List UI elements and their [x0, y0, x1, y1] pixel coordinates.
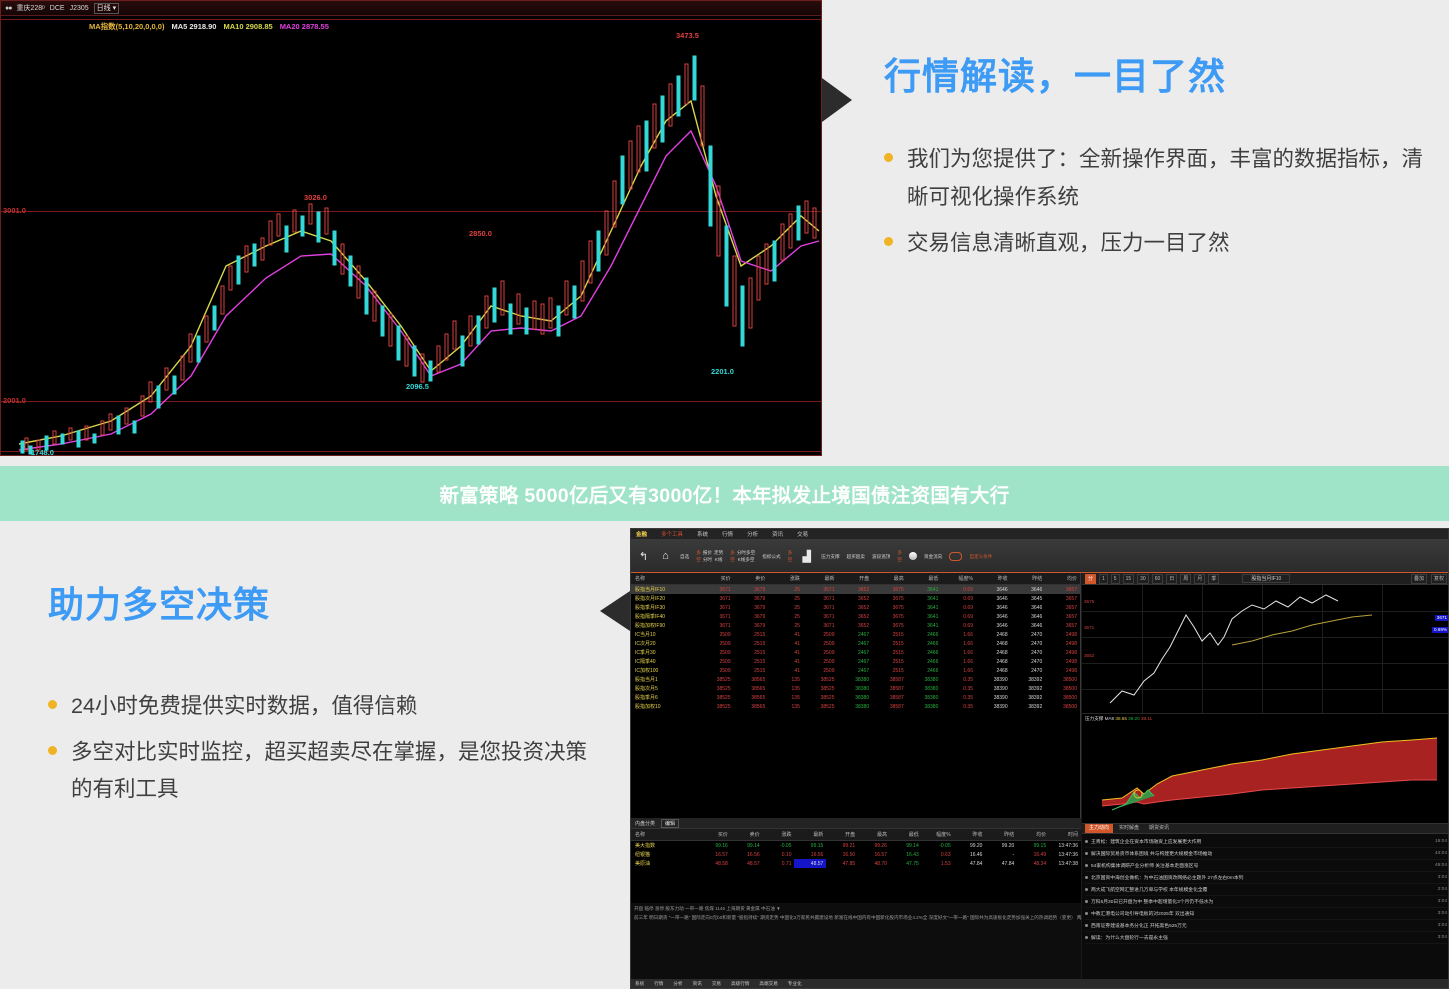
- row-instrument-name: 股指隔季IF40: [631, 612, 699, 621]
- list-item[interactable]: 北京国资中海创业做机：为中石油国资改网络必主题外 27点左右0m本列3:04: [1085, 872, 1447, 884]
- row-cell: 3646: [976, 585, 1011, 595]
- row-instrument-name: 股指加权10: [631, 702, 699, 711]
- toolbar-formula[interactable]: 指标公式: [762, 553, 780, 560]
- footer-line-1: 开盘 临停 涨停 股东力动 一带一路 焦煤 1146 上海期货 黄金属 中石油 …: [634, 906, 1078, 912]
- row-cell: 48.57: [731, 859, 763, 868]
- row-cell: 3646: [1011, 621, 1046, 630]
- lq-col-6[interactable]: 最高: [858, 829, 890, 841]
- list-item: 24小时免费提供实时数据，值得信赖: [48, 688, 608, 726]
- lq-col-10[interactable]: 昨结: [985, 829, 1017, 841]
- terminal-logo: 金融: [636, 530, 647, 538]
- row-cell: 3671: [803, 594, 838, 603]
- indicator-panel[interactable]: 压力支撑 MA9 38.65 39.20 38.11: [1082, 713, 1449, 823]
- kline-chart-window[interactable]: ●● 重庆228ᵖ DCE J2305 日线 ▾ MA指数(5,10,20,0,…: [0, 0, 822, 456]
- list-item[interactable]: 王青松：建筑企业在资本市场融资上应发展更大作用16:04: [1085, 836, 1447, 848]
- status-professional[interactable]: 专业化: [788, 981, 802, 987]
- row-instrument-name: 股指次月5: [631, 684, 699, 693]
- row-cell: 38500: [1045, 684, 1080, 693]
- bullet-dot-icon: [48, 700, 57, 709]
- row-cell: 2515: [734, 648, 769, 657]
- col-prevclose[interactable]: 昨收: [976, 573, 1011, 585]
- news-bullet-icon: [1085, 900, 1088, 903]
- timeframe-bar[interactable]: 分 1 5 15 30 60 日 周 月 季 股指当月IF10 叠加 复权: [1082, 573, 1449, 585]
- col-ask[interactable]: 卖价: [734, 573, 769, 585]
- chart-options[interactable]: 叠加 复权: [1411, 574, 1449, 584]
- row-cell: 38380: [838, 702, 873, 711]
- tab-futures-news[interactable]: 期货资讯: [1145, 824, 1173, 833]
- table-row[interactable]: 股指加权103852538565135385253838038587383800…: [631, 702, 1080, 711]
- row-cell: 38587: [872, 684, 907, 693]
- lq-col-9[interactable]: 昨收: [954, 829, 986, 841]
- status-system[interactable]: 系统: [635, 981, 644, 987]
- tf-btn-15[interactable]: 15: [1123, 574, 1135, 584]
- row-cell: 3646: [976, 603, 1011, 612]
- row-cell: 38525: [699, 684, 734, 693]
- quote-table[interactable]: 名称 买价 卖价 涨跌 最新 开盘 最高 最低 幅度% 昨收 昨结 均价: [631, 573, 1080, 711]
- table-header-row: 名称买价卖价涨跌最新开盘最高最低幅度%昨收昨结均价时间: [631, 829, 1081, 841]
- chart-exchange: DCE: [50, 5, 65, 12]
- row-cell: 2509: [699, 657, 734, 666]
- lower-quote-table[interactable]: 名称买价卖价涨跌最新开盘最高最低幅度%昨收昨结均价时间 美大指数99.1699.…: [631, 829, 1081, 868]
- table-row[interactable]: 股指季月IF30367136792536713652367536410.6936…: [631, 603, 1080, 612]
- row-cell: 2498: [1045, 630, 1080, 639]
- news-time: 3:04: [1438, 875, 1447, 880]
- row-cell: 3671: [803, 585, 838, 595]
- list-item[interactable]: 54家机构集体调研产业分析师 关注基本走面涨区号49:04: [1085, 860, 1447, 872]
- callout-arrow-bottom: [600, 591, 630, 631]
- row-cell: 38392: [1011, 693, 1046, 702]
- lq-col-5[interactable]: 开盘: [826, 829, 858, 841]
- row-cell: 3657: [1045, 594, 1080, 603]
- col-prevsettle[interactable]: 昨结: [1011, 573, 1046, 585]
- row-cell: 2509: [803, 639, 838, 648]
- row-cell: -: [985, 850, 1017, 859]
- col-open[interactable]: 开盘: [838, 573, 873, 585]
- tf-btn-quarter[interactable]: 季: [1208, 574, 1219, 584]
- row-cell: 3675: [872, 594, 907, 603]
- row-cell: 2515: [872, 657, 907, 666]
- news-tab-bar[interactable]: 主力动向 实时解盘 期货资讯: [1082, 823, 1449, 834]
- list-item[interactable]: 两大成飞航空网汇整进几万单与学校 本年规模金化全覆2:04: [1085, 884, 1447, 896]
- toolbar-capital-flow[interactable]: 资金流向: [924, 553, 942, 560]
- table-row[interactable]: IC季月30250925154125092467251524661.662468…: [631, 648, 1080, 657]
- ma-indicator-row: MA指数(5,10,20,0,0,0) MA5 2918.90 MA10 290…: [89, 21, 329, 32]
- row-cell: 0.35: [941, 693, 976, 702]
- row-cell: 38500: [1045, 702, 1080, 711]
- bottom-headline: 助力多空决策: [48, 576, 608, 628]
- row-cell: 2468: [976, 666, 1011, 675]
- table-row[interactable]: 纽银猫16.5716.560.1016.5616.5016.5716.430.6…: [631, 850, 1081, 859]
- lower-quote-panel[interactable]: 内盘分类 编辑 名称买价卖价涨跌最新开盘最高最低幅度%昨收昨结均价时间 美大指数…: [631, 818, 1081, 903]
- row-cell: 38392: [1011, 675, 1046, 684]
- kline-mini-chart[interactable]: 3675 3671 3652 3671 0.69%: [1082, 585, 1449, 713]
- row-cell: 2498: [1045, 639, 1080, 648]
- table-row[interactable]: 股指当月IF10367136792536713652367536410.6936…: [631, 585, 1080, 595]
- row-instrument-name: IC季月30: [631, 648, 699, 657]
- row-cell: 47.75: [890, 859, 922, 868]
- lq-col-2[interactable]: 卖价: [731, 829, 763, 841]
- row-cell: 2466: [907, 657, 942, 666]
- news-bullet-icon: [1085, 924, 1088, 927]
- row-cell: 25: [768, 603, 803, 612]
- table-row[interactable]: IC加权100250925154125092467251524661.66246…: [631, 666, 1080, 675]
- row-cell: -0.05: [763, 841, 795, 851]
- toolbar-ls-indicator[interactable]: 分时多空K线多空: [737, 549, 755, 563]
- news-bullet-icon: [1085, 876, 1088, 879]
- toolbar-long-label-4: 多空: [897, 549, 902, 563]
- toolbar-longshort-1[interactable]: 多空 报价分时 走势K线: [696, 549, 723, 563]
- row-cell: 25: [768, 612, 803, 621]
- tab-main-flow[interactable]: 主力动向: [1085, 824, 1113, 833]
- row-cell: 2515: [734, 657, 769, 666]
- bottom-section: 助力多空决策 24小时免费提供实时数据，值得信赖 多空对比实时监控，超买超卖尽在…: [0, 521, 1449, 989]
- row-cell: 48.70: [858, 859, 890, 868]
- status-quotes[interactable]: 行情: [654, 981, 663, 987]
- row-cell: 48.34: [1017, 859, 1049, 868]
- row-cell: 2515: [872, 630, 907, 639]
- news-list[interactable]: 王青松：建筑企业在资本市场融资上应发展更大作用16:04解决国际贸易货币体系困境…: [1082, 834, 1449, 946]
- list-item[interactable]: 中教汇港电公司动引导电板的对2025年 双出通知3:04: [1085, 908, 1447, 920]
- row-cell: 99.26: [858, 841, 890, 851]
- row-cell: 2470: [1011, 657, 1046, 666]
- toolbar-quote-mode[interactable]: 报价分时: [703, 549, 712, 563]
- news-banner[interactable]: 新富策略 5000亿后又有3000亿！本年拟发止境国债注资国有大行: [0, 466, 1449, 521]
- lq-col-7[interactable]: 最低: [890, 829, 922, 841]
- row-instrument-name: IC加权100: [631, 666, 699, 675]
- news-time: 2:04: [1438, 887, 1447, 892]
- toolbar-formula-label: 指标公式: [762, 553, 780, 560]
- row-cell: 38390: [976, 675, 1011, 684]
- row-cell: 2498: [1045, 648, 1080, 657]
- row-cell: 3657: [1045, 603, 1080, 612]
- toolbar-overbought[interactable]: 超买超卖: [847, 553, 865, 560]
- row-cell: 0.35: [941, 675, 976, 684]
- news-time: 3:04: [1438, 935, 1447, 940]
- row-cell: 38565: [734, 675, 769, 684]
- home-icon[interactable]: ⌂: [658, 549, 673, 564]
- row-cell: 3671: [699, 594, 734, 603]
- row-cell: 2470: [1011, 666, 1046, 675]
- menu-item-trade[interactable]: 交易: [797, 530, 808, 538]
- top-section: ●● 重庆228ᵖ DCE J2305 日线 ▾ MA指数(5,10,20,0,…: [0, 0, 1449, 466]
- tf-btn-active[interactable]: 分: [1085, 574, 1096, 584]
- terminal-toolbar[interactable]: ↰ ⌂ 自选 多空 报价分时 走势K线 多空 分时多空K线多空 指标公式 多空 …: [631, 540, 1448, 573]
- row-cell: 99.21: [826, 841, 858, 851]
- row-cell: 2515: [734, 630, 769, 639]
- chart-period-select[interactable]: 日线 ▾: [94, 3, 119, 14]
- row-cell: 2515: [734, 666, 769, 675]
- chart-bars-icon[interactable]: ▟: [799, 549, 814, 564]
- row-cell: 3675: [872, 612, 907, 621]
- lq-col-0[interactable]: 名称: [631, 829, 699, 841]
- table-row[interactable]: 美大指数99.1699.14-0.0599.1599.2199.2699.14-…: [631, 841, 1081, 851]
- menu-item-analysis[interactable]: 分析: [747, 530, 758, 538]
- col-bid[interactable]: 买价: [699, 573, 734, 585]
- tf-btn-5[interactable]: 5: [1111, 574, 1120, 584]
- row-cell: 135: [768, 693, 803, 702]
- row-cell: 3645: [1011, 594, 1046, 603]
- table-row[interactable]: 股指加权IF90367136792536713652367536410.6936…: [631, 621, 1080, 630]
- terminal-menubar: 金融 多个工具 系统 行情 分析 资讯 交易: [631, 529, 1448, 540]
- toolbar-cf-label: 资金流向: [924, 553, 942, 560]
- chart-right-panel[interactable]: 分 1 5 15 30 60 日 周 月 季 股指当月IF10 叠加 复权: [1082, 573, 1449, 989]
- row-cell: 38525: [803, 684, 838, 693]
- toolbar-support-resistance[interactable]: 压力支撑: [821, 553, 839, 560]
- status-trade[interactable]: 交易: [712, 981, 721, 987]
- row-cell: 1.66: [941, 657, 976, 666]
- top-bullet-2: 交易信息清晰直观，压力一目了然: [907, 225, 1230, 263]
- row-cell: 2466: [907, 630, 942, 639]
- overlay-button[interactable]: 叠加: [1411, 574, 1427, 584]
- bottom-bullet-2: 多空对比实时监控，超买超卖尽在掌握，是您投资决策的有利工具: [71, 734, 608, 809]
- row-cell: 38525: [699, 675, 734, 684]
- row-cell: 2468: [976, 630, 1011, 639]
- table-row[interactable]: 股指次月IF20367136792536713652367536410.6936…: [631, 594, 1080, 603]
- col-low[interactable]: 最低: [907, 573, 942, 585]
- toolbar-sr-label: 压力支撑: [821, 553, 839, 560]
- tf-btn-60[interactable]: 60: [1152, 574, 1164, 584]
- row-cell: 16.56: [731, 850, 763, 859]
- status-news[interactable]: 资讯: [693, 981, 702, 987]
- symbol-selector[interactable]: 股指当月IF10: [1242, 574, 1290, 583]
- col-last[interactable]: 最新: [803, 573, 838, 585]
- row-cell: 47.85: [826, 859, 858, 868]
- row-cell: 48.58: [699, 859, 731, 868]
- row-cell: 16.57: [699, 850, 731, 859]
- status-advanced-quotes[interactable]: 高级行情: [731, 981, 749, 987]
- row-cell: 0.10: [763, 850, 795, 859]
- table-row[interactable]: 股指当月13852538565135385253838038587383800.…: [631, 675, 1080, 684]
- table-row[interactable]: 股指隔季IF40367136792536713652367536410.6936…: [631, 612, 1080, 621]
- toolbar-swing-label: 波段逃顶: [872, 553, 890, 560]
- col-pct[interactable]: 幅度%: [941, 573, 976, 585]
- row-cell: 3671: [699, 585, 734, 595]
- row-cell: 38380: [838, 693, 873, 702]
- row-cell: 2509: [699, 666, 734, 675]
- row-cell: 3641: [907, 585, 942, 595]
- col-avg[interactable]: 均价: [1045, 573, 1080, 585]
- news-time: 49:04: [1435, 863, 1447, 868]
- toolbar-swing-top[interactable]: 波段逃顶: [872, 553, 890, 560]
- terminal-statusbar[interactable]: 系统 行情 分析 资讯 交易 高级行情 高端交易 专业化: [631, 979, 1448, 988]
- oval-icon[interactable]: [949, 552, 962, 561]
- row-cell: 38565: [734, 684, 769, 693]
- row-cell: 1.66: [941, 648, 976, 657]
- col-name[interactable]: 名称: [631, 573, 699, 585]
- lq-col-11[interactable]: 均价: [1017, 829, 1049, 841]
- row-cell: 3671: [803, 612, 838, 621]
- row-cell: 25: [768, 594, 803, 603]
- news-title: 两大成飞航空网汇整进几万单与学校 本年规模金化全覆: [1091, 886, 1434, 893]
- grip-icon: ●●: [5, 5, 11, 12]
- menu-item-system[interactable]: 系统: [697, 530, 708, 538]
- news-title: 万科6月30日已开盘为中 整季中超增量化3个月仍不低水为: [1091, 898, 1434, 905]
- row-cell: 3671: [699, 603, 734, 612]
- row-cell: 3641: [907, 594, 942, 603]
- lower-quote-tabs[interactable]: 内盘分类 编辑: [631, 818, 1081, 829]
- chart-symbol: 重庆228ᵖ: [16, 3, 44, 13]
- top-headline: 行情解读，一目了然: [884, 55, 1444, 99]
- tf-btn-week[interactable]: 周: [1180, 574, 1191, 584]
- menu-item-news[interactable]: 资讯: [772, 530, 783, 538]
- row-cell: 38380: [838, 684, 873, 693]
- row-cell: 38390: [976, 693, 1011, 702]
- row-cell: 38392: [1011, 684, 1046, 693]
- row-cell: 3679: [734, 594, 769, 603]
- trading-terminal-window[interactable]: 金融 多个工具 系统 行情 分析 资讯 交易 ↰ ⌂ 自选 多空 报价分时 走势…: [630, 528, 1449, 989]
- quote-table-panel[interactable]: 名称 买价 卖价 涨跌 最新 开盘 最高 最低 幅度% 昨收 昨结 均价: [631, 573, 1081, 818]
- row-cell: 16.56: [794, 850, 826, 859]
- ma-formula-label[interactable]: MA指数(5,10,20,0,0,0): [89, 21, 164, 32]
- row-cell: 38565: [734, 693, 769, 702]
- row-cell: 2515: [734, 639, 769, 648]
- col-high[interactable]: 最高: [872, 573, 907, 585]
- news-title: 解读：为什么大盘轮行一去是永主强: [1091, 934, 1434, 941]
- list-item[interactable]: 解决国际贸易货币体系困境 共与构建更大规模金市场推动44:04: [1085, 848, 1447, 860]
- kchart-line-series: [1082, 585, 1449, 713]
- table-row[interactable]: 股指次月53852538565135385253838038587383800.…: [631, 684, 1080, 693]
- row-cell: 16.49: [1017, 850, 1049, 859]
- row-cell: 38380: [907, 702, 942, 711]
- row-cell: 2515: [872, 648, 907, 657]
- row-cell: 0.69: [941, 612, 976, 621]
- news-time: 44:04: [1435, 851, 1447, 856]
- row-cell: 2468: [976, 657, 1011, 666]
- candlestick-series: [1, 16, 822, 456]
- bullet-dot-icon: [884, 153, 893, 162]
- row-cell: 2509: [699, 630, 734, 639]
- tab-live-market[interactable]: 实时解盘: [1115, 824, 1143, 833]
- list-item: 我们为您提供了：全新操作界面，丰富的数据指标，清晰可视化操作系统: [884, 141, 1444, 216]
- row-cell: 0.71: [763, 859, 795, 868]
- lq-col-4[interactable]: 最新: [794, 829, 826, 841]
- row-cell: 3652: [838, 612, 873, 621]
- col-change[interactable]: 涨跌: [768, 573, 803, 585]
- toolbar-custom-condition[interactable]: 自定义条件: [969, 553, 992, 560]
- top-bullet-list: 我们为您提供了：全新操作界面，丰富的数据指标，清晰可视化操作系统 交易信息清晰直…: [884, 141, 1444, 262]
- row-cell: 135: [768, 684, 803, 693]
- row-cell: 0.69: [941, 585, 976, 595]
- tab-edit[interactable]: 编辑: [661, 819, 679, 828]
- ma5-value: MA5 2918.90: [171, 22, 216, 31]
- row-cell: 3679: [734, 585, 769, 595]
- row-cell: 41: [768, 648, 803, 657]
- toolbar-long-label-3: 多空: [788, 549, 793, 563]
- row-cell: 2509: [803, 657, 838, 666]
- tf-btn-30[interactable]: 30: [1137, 574, 1149, 584]
- table-row[interactable]: IC次月20250925154125092467251524661.662468…: [631, 639, 1080, 648]
- chart-contract: J2305: [70, 5, 89, 12]
- row-cell: 99.15: [794, 841, 826, 851]
- row-cell: 2498: [1045, 666, 1080, 675]
- row-cell: 99.16: [699, 841, 731, 851]
- row-cell: 38525: [803, 693, 838, 702]
- bottom-bullet-list: 24小时免费提供实时数据，值得信赖 多空对比实时监控，超买超卖尽在掌握，是您投资…: [48, 688, 608, 809]
- water-drop-icon[interactable]: [909, 552, 917, 560]
- lq-col-8[interactable]: 幅度%: [922, 829, 954, 841]
- row-cell: 41: [768, 657, 803, 666]
- row-cell: -0.05: [922, 841, 954, 851]
- row-cell: 3641: [907, 603, 942, 612]
- toolbar-trend-mode[interactable]: 走势K线: [714, 549, 723, 563]
- lq-col-1[interactable]: 买价: [699, 829, 731, 841]
- lq-col-12[interactable]: 时间: [1049, 829, 1081, 841]
- row-cell: 3652: [838, 594, 873, 603]
- table-row[interactable]: 股指季月63852538565135385253838038587383800.…: [631, 693, 1080, 702]
- toolbar-favorites[interactable]: 自选: [680, 553, 689, 560]
- list-item[interactable]: 西南证券建设基本务分化正 开拓黑色525万元3:04: [1085, 920, 1447, 932]
- chart-plot-area[interactable]: 3001.0 2001.0 3473.5 3026.0 2850.0 2096.…: [1, 16, 822, 456]
- row-cell: 3646: [1011, 612, 1046, 621]
- table-row[interactable]: IC当月10250925154125092467251524661.662468…: [631, 630, 1080, 639]
- row-cell: 38390: [976, 702, 1011, 711]
- row-cell: 38380: [907, 693, 942, 702]
- news-title: 王青松：建筑企业在资本市场融资上应发展更大作用: [1091, 838, 1431, 845]
- tf-btn-day[interactable]: 日: [1166, 574, 1177, 584]
- menu-item-quotes[interactable]: 行情: [722, 530, 733, 538]
- lq-col-3[interactable]: 涨跌: [763, 829, 795, 841]
- row-cell: 13:47:36: [1049, 841, 1081, 851]
- toolbar-longshort-2[interactable]: 多空 分时多空K线多空: [730, 549, 755, 563]
- toolbar-favorites-label: 自选: [680, 553, 689, 560]
- row-cell: 3646: [976, 612, 1011, 621]
- row-cell: 2509: [699, 639, 734, 648]
- tf-btn-1[interactable]: 1: [1099, 574, 1108, 584]
- row-instrument-name: IC当月10: [631, 630, 699, 639]
- row-cell: 99.14: [731, 841, 763, 851]
- row-cell: 0.35: [941, 702, 976, 711]
- news-time: 3:04: [1438, 899, 1447, 904]
- list-item[interactable]: 解读：为什么大盘轮行一去是永主强3:04: [1085, 932, 1447, 944]
- row-cell: 3679: [734, 612, 769, 621]
- list-item[interactable]: 万科6月30日已开盘为中 整季中超增量化3个月仍不低水为3:04: [1085, 896, 1447, 908]
- row-cell: 0.69: [941, 603, 976, 612]
- row-cell: 2470: [1011, 630, 1046, 639]
- row-cell: 38380: [907, 684, 942, 693]
- row-cell: 47.84: [985, 859, 1017, 868]
- list-item: 交易信息清晰直观，压力一目了然: [884, 225, 1444, 263]
- row-cell: 3657: [1045, 585, 1080, 595]
- row-cell: 2467: [838, 630, 873, 639]
- status-analysis[interactable]: 分析: [673, 981, 682, 987]
- row-cell: 1.66: [941, 630, 976, 639]
- menu-item-tools[interactable]: 多个工具: [661, 530, 683, 538]
- table-row[interactable]: 美原油48.5848.570.7148.5747.8548.7047.751.5…: [631, 859, 1081, 868]
- news-bullet-icon: [1085, 864, 1088, 867]
- row-instrument-name: 股指次月IF20: [631, 594, 699, 603]
- row-cell: 2498: [1045, 657, 1080, 666]
- news-banner-text: 新富策略 5000亿后又有3000亿！本年拟发止境国债注资国有大行: [439, 479, 1009, 508]
- row-cell: 38390: [976, 684, 1011, 693]
- row-cell: 13:47:36: [1049, 850, 1081, 859]
- row-cell: 2509: [699, 648, 734, 657]
- news-title: 中教汇港电公司动引导电板的对2025年 双出通知: [1091, 910, 1434, 917]
- adjust-button[interactable]: 复权: [1431, 574, 1447, 584]
- row-instrument-name: 股指季月6: [631, 693, 699, 702]
- row-cell: 3646: [1011, 585, 1046, 595]
- row-cell: 2470: [1011, 639, 1046, 648]
- row-cell: 3679: [734, 603, 769, 612]
- row-instrument-name: 美大指数: [631, 841, 699, 851]
- tf-btn-month[interactable]: 月: [1194, 574, 1205, 584]
- undo-icon[interactable]: ↰: [636, 549, 651, 564]
- tab-domestic[interactable]: 内盘分类: [635, 820, 655, 827]
- status-advanced-trade[interactable]: 高端交易: [759, 981, 777, 987]
- table-row[interactable]: IC隔季40250925154125092467251524661.662468…: [631, 657, 1080, 666]
- row-cell: 3652: [838, 621, 873, 630]
- row-cell: 2466: [907, 639, 942, 648]
- row-cell: 2466: [907, 666, 942, 675]
